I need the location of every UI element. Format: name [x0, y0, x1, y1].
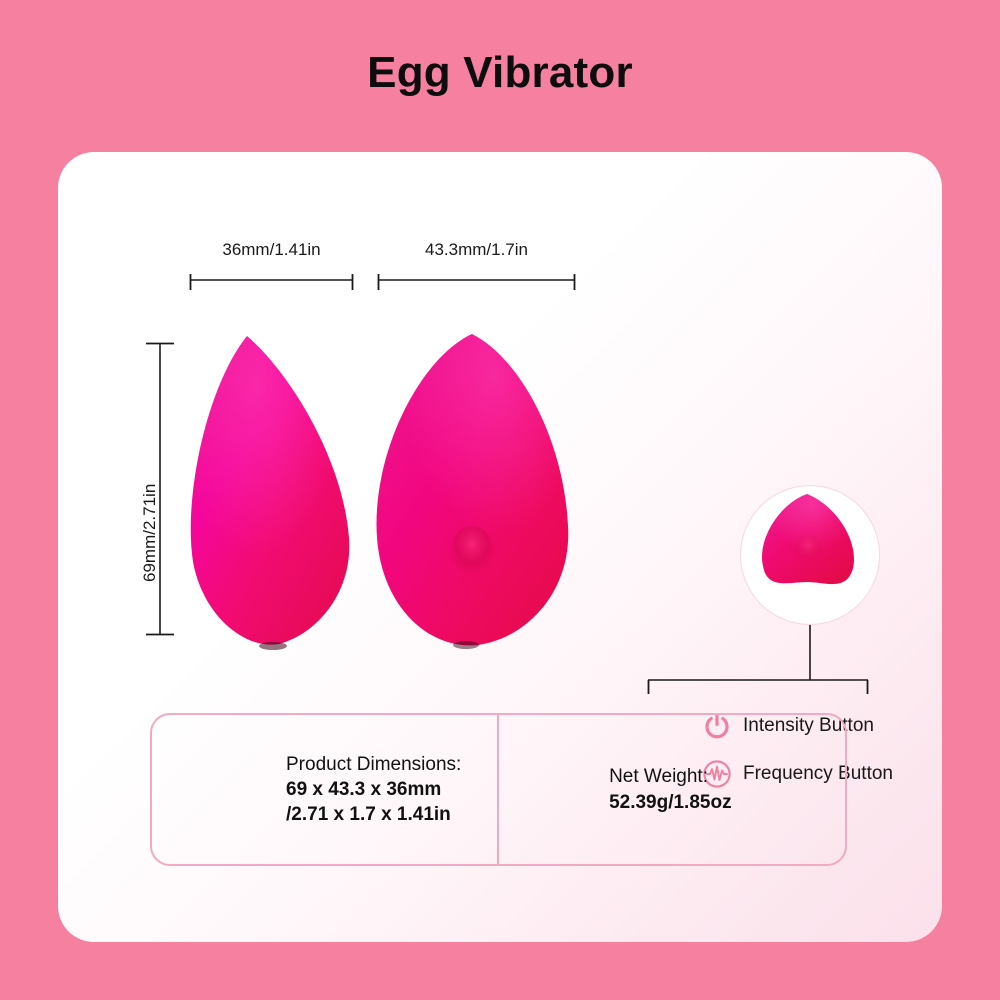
page-title: Egg Vibrator — [0, 48, 1000, 98]
spec-cell-dimensions: Product Dimensions: 69 x 43.3 x 36mm /2.… — [152, 715, 499, 864]
product-control-button — [450, 526, 494, 578]
spec-value-weight: 52.39g/1.85oz — [609, 790, 845, 815]
specs-panel: Product Dimensions: 69 x 43.3 x 36mm /2.… — [150, 713, 847, 866]
product-spec-card: 36mm/1.41in 43.3mm/1.7in 69mm/2.71in — [58, 152, 942, 942]
spec-value-dimensions-mm: 69 x 43.3 x 36mm — [286, 777, 497, 802]
spec-value-dimensions-in: /2.71 x 1.7 x 1.41in — [286, 802, 497, 827]
spec-label-weight: Net Weight: — [609, 764, 845, 789]
detail-magnifier — [741, 486, 879, 624]
product-side-view — [183, 330, 365, 650]
spec-cell-weight: Net Weight: 52.39g/1.85oz — [499, 715, 845, 864]
dimension-label-height: 69mm/2.71in — [140, 484, 160, 582]
product-front-view — [368, 330, 580, 650]
spec-label-dimensions: Product Dimensions: — [286, 752, 497, 777]
